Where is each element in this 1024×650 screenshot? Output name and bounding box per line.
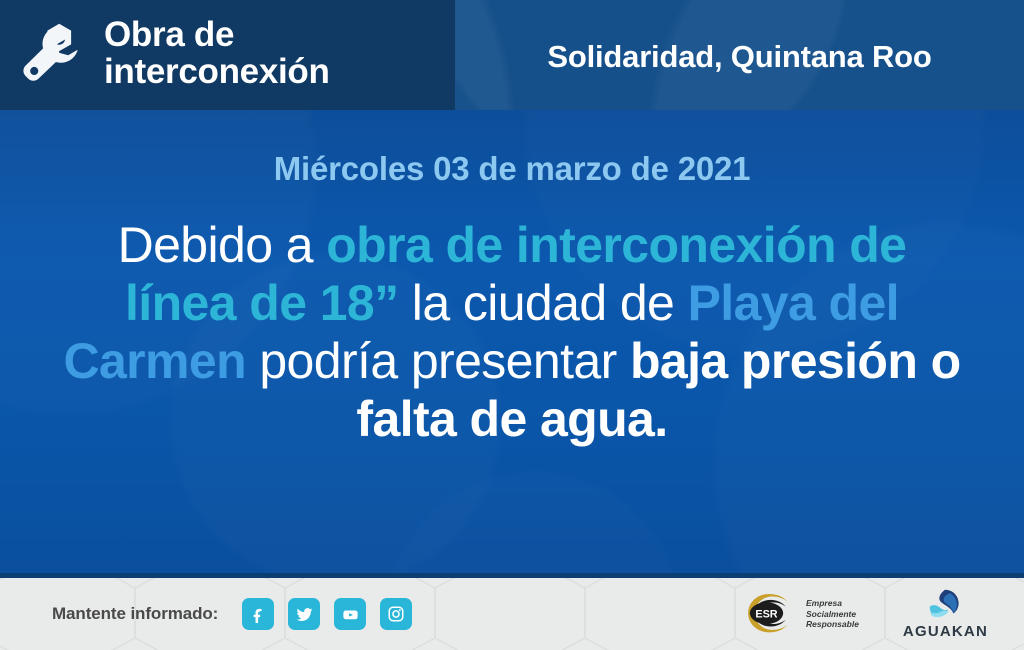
location-title: Solidaridad, Quintana Roo: [547, 39, 931, 75]
notice-message-segment: Debido a: [118, 217, 327, 273]
aguakan-logo: AGUAKAN: [903, 588, 988, 640]
page-header: Obra de interconexión Solidaridad, Quint…: [0, 0, 1024, 110]
wrench-icon: [0, 0, 104, 110]
notice-date: Miércoles 03 de marzo de 2021: [274, 150, 751, 188]
esr-line3: Responsable: [806, 619, 859, 630]
keep-informed-label: Mantente informado:: [52, 604, 218, 624]
notice-message-segment: podría presentar: [246, 333, 630, 389]
aguakan-wave-icon: [924, 588, 966, 622]
esr-line1: Empresa: [806, 598, 859, 609]
aguakan-wordmark: AGUAKAN: [903, 623, 988, 640]
instagram-icon[interactable]: [380, 598, 412, 630]
brand-title-line2: interconexión: [104, 54, 330, 90]
notice-message-segment: la ciudad de: [399, 275, 688, 331]
social-links: [242, 598, 412, 630]
svg-text:ESR: ESR: [755, 608, 777, 620]
footer-logos: ESR Empresa Socialmente Responsable AGUA…: [739, 588, 1010, 640]
header-location-panel: Solidaridad, Quintana Roo: [455, 0, 1024, 110]
youtube-icon[interactable]: [334, 598, 366, 630]
footer-divider: [0, 573, 1024, 578]
brand-title: Obra de interconexión: [104, 17, 330, 92]
twitter-icon[interactable]: [288, 598, 320, 630]
esr-logo: ESR Empresa Socialmente Responsable: [739, 593, 859, 635]
facebook-icon[interactable]: [242, 598, 274, 630]
notice-stage: Miércoles 03 de marzo de 2021 Debido a o…: [0, 110, 1024, 578]
brand-title-line1: Obra de: [104, 17, 330, 53]
page-footer: Mantente informado:: [0, 578, 1024, 650]
esr-line2: Socialmente: [806, 609, 859, 620]
notice-message: Debido a obra de interconexión de línea …: [62, 216, 962, 448]
header-brand-panel: Obra de interconexión: [0, 0, 455, 110]
